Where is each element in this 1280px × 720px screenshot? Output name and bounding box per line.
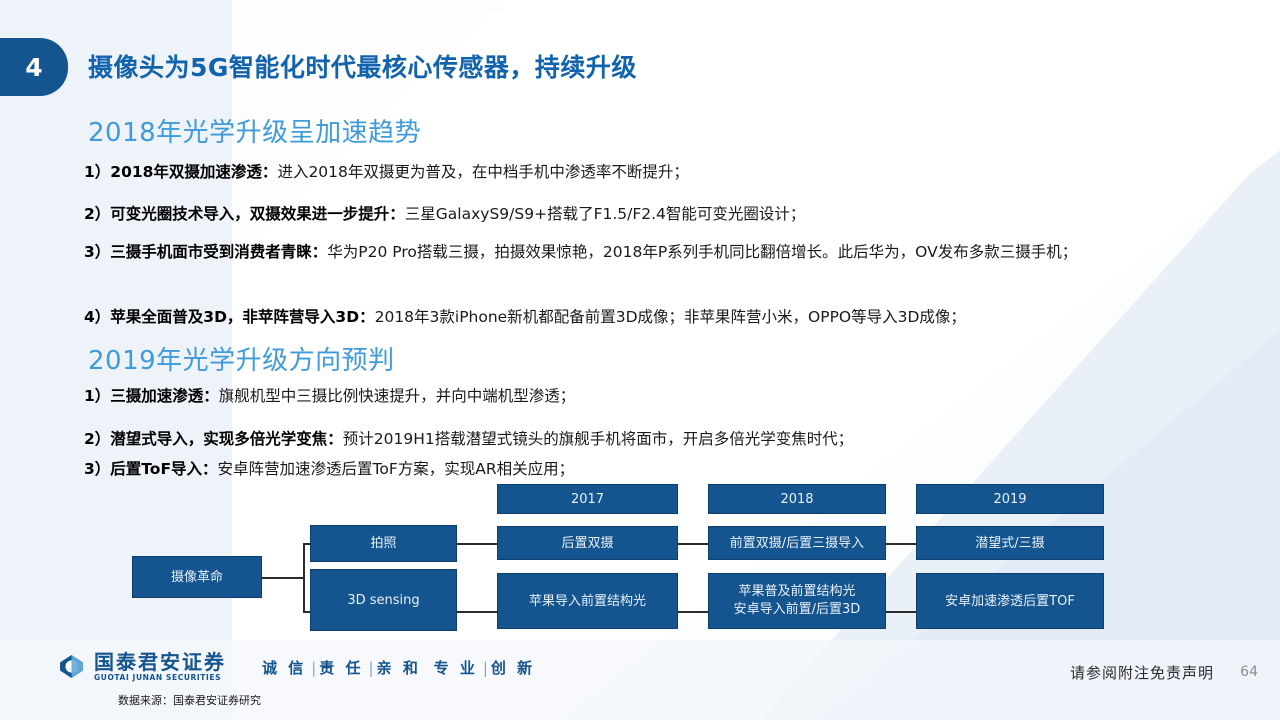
connector-2018-to-2019-row2	[886, 611, 916, 613]
connector-photo-to-2017	[457, 543, 497, 545]
bullet-2018-2-rest: 三星GalaxyS9/S9+搭载了F1.5/F2.4智能可变光圈设计；	[405, 205, 806, 223]
bullet-2019-3-lead: 3）后置ToF导入：	[84, 460, 218, 478]
value-divider-1: |	[311, 659, 316, 677]
section-heading-2019: 2019年光学升级方向预判	[88, 340, 395, 377]
chapter-number-label: 4	[25, 53, 42, 82]
bullet-2019-2: 2）潜望式导入，实现多倍光学变焦：预计2019H1搭载潜望式镜头的旗舰手机将面市…	[84, 425, 1254, 453]
diagram-cell-2018-photo: 前置双摄/后置三摄导入	[708, 526, 886, 560]
company-name-cn: 国泰君安证券	[94, 652, 226, 672]
diagram-branch-3dsensing: 3D sensing	[310, 569, 457, 631]
chapter-number-badge: 4	[0, 38, 68, 96]
bullet-2018-4-rest: 2018年3款iPhone新机都配备前置3D成像；非苹果阵营小米，OPPO等导入…	[375, 308, 966, 326]
connector-2017-to-2018-row1	[678, 543, 708, 545]
year-header-2017: 2017	[497, 484, 678, 514]
bullet-2018-4: 4）苹果全面普及3D，非苹阵营导入3D：2018年3款iPhone新机都配备前置…	[84, 303, 1254, 331]
bullet-2018-3: 3）三摄手机面市受到消费者青睐：华为P20 Pro搭载三摄，拍摄效果惊艳，201…	[84, 238, 1254, 266]
page-title: 摄像头为5G智能化时代最核心传感器，持续升级	[88, 48, 637, 84]
year-header-2019: 2019	[916, 484, 1104, 514]
bullet-2018-4-lead: 4）苹果全面普及3D，非苹阵营导入3D：	[84, 308, 375, 326]
bullet-2019-1-lead: 1）三摄加速渗透：	[84, 387, 219, 405]
diagram-branch-photo: 拍照	[310, 525, 457, 562]
bullet-2018-3-rest: 华为P20 Pro搭载三摄，拍摄效果惊艳，2018年P系列手机同比翻倍增长。此后…	[327, 243, 1077, 261]
diagram-cell-2018-3d: 苹果普及前置结构光 安卓导入前置/后置3D	[708, 573, 886, 629]
company-logo-icon	[58, 653, 85, 680]
diagram-cell-2017-photo: 后置双摄	[497, 526, 678, 560]
slide-canvas: 4 摄像头为5G智能化时代最核心传感器，持续升级 2018年光学升级呈加速趋势 …	[0, 0, 1280, 720]
bullet-2019-1: 1）三摄加速渗透：旗舰机型中三摄比例快速提升，并向中端机型渗透；	[84, 382, 1254, 410]
disclaimer-text: 请参阅附注免责声明	[1070, 662, 1214, 683]
value-5: 创 新	[491, 657, 535, 678]
connector-2017-to-2018-row2	[678, 611, 708, 613]
value-2: 责 任	[319, 657, 363, 678]
roadmap-diagram: 2017 2018 2019 摄像革命 拍照 3D sensing 后置双摄 前…	[0, 478, 1280, 643]
bullet-2019-3-rest: 安卓阵营加速渗透后置ToF方案，实现AR相关应用；	[218, 460, 575, 478]
company-name-en: GUOTAI JUNAN SECURITIES	[94, 674, 226, 682]
connector-3d-to-2017	[457, 611, 497, 613]
bullet-2019-2-rest: 预计2019H1搭载潜望式镜头的旗舰手机将面市，开启多倍光学变焦时代；	[343, 430, 853, 448]
bullet-2018-2-lead: 2）可变光圈技术导入，双摄效果进一步提升：	[84, 205, 405, 223]
bullet-2019-1-rest: 旗舰机型中三摄比例快速提升，并向中端机型渗透；	[219, 387, 576, 405]
corporate-values: 诚 信| 责 任| 亲 和 专 业| 创 新	[262, 657, 539, 678]
value-divider-3	[426, 659, 431, 677]
value-divider-4: |	[483, 659, 488, 677]
bullet-2018-1: 1）2018年双摄加速渗透：进入2018年双摄更为普及，在中档手机中渗透率不断提…	[84, 158, 1254, 186]
diagram-cell-2019-3d: 安卓加速渗透后置TOF	[916, 573, 1104, 629]
section-heading-2018: 2018年光学升级呈加速趋势	[88, 112, 421, 149]
value-1: 诚 信	[262, 657, 306, 678]
value-4: 专 业	[434, 657, 478, 678]
diagram-root-node: 摄像革命	[132, 556, 262, 598]
year-header-2018: 2018	[708, 484, 886, 514]
bullet-2018-1-lead: 1）2018年双摄加速渗透：	[84, 163, 277, 181]
connector-trunk-vertical	[303, 543, 305, 611]
company-logo-text: 国泰君安证券 GUOTAI JUNAN SECURITIES	[94, 652, 226, 682]
diagram-cell-2019-photo: 潜望式/三摄	[916, 526, 1104, 560]
bullet-2018-1-rest: 进入2018年双摄更为普及，在中档手机中渗透率不断提升；	[277, 163, 688, 181]
bullet-2019-2-lead: 2）潜望式导入，实现多倍光学变焦：	[84, 430, 343, 448]
source-note: 数据来源：国泰君安证券研究	[118, 692, 261, 708]
diagram-cell-2017-3d: 苹果导入前置结构光	[497, 573, 678, 629]
value-3: 亲 和	[377, 657, 421, 678]
bg-band-top-strip	[232, 0, 502, 12]
page-number: 64	[1240, 664, 1258, 680]
value-divider-2: |	[369, 659, 374, 677]
bullet-2018-3-lead: 3）三摄手机面市受到消费者青睐：	[84, 243, 327, 261]
company-logo: 国泰君安证券 GUOTAI JUNAN SECURITIES	[58, 652, 226, 682]
bullet-2018-2: 2）可变光圈技术导入，双摄效果进一步提升：三星GalaxyS9/S9+搭载了F1…	[84, 200, 1254, 228]
connector-root-to-trunk	[262, 577, 304, 579]
connector-2018-to-2019-row1	[886, 543, 916, 545]
